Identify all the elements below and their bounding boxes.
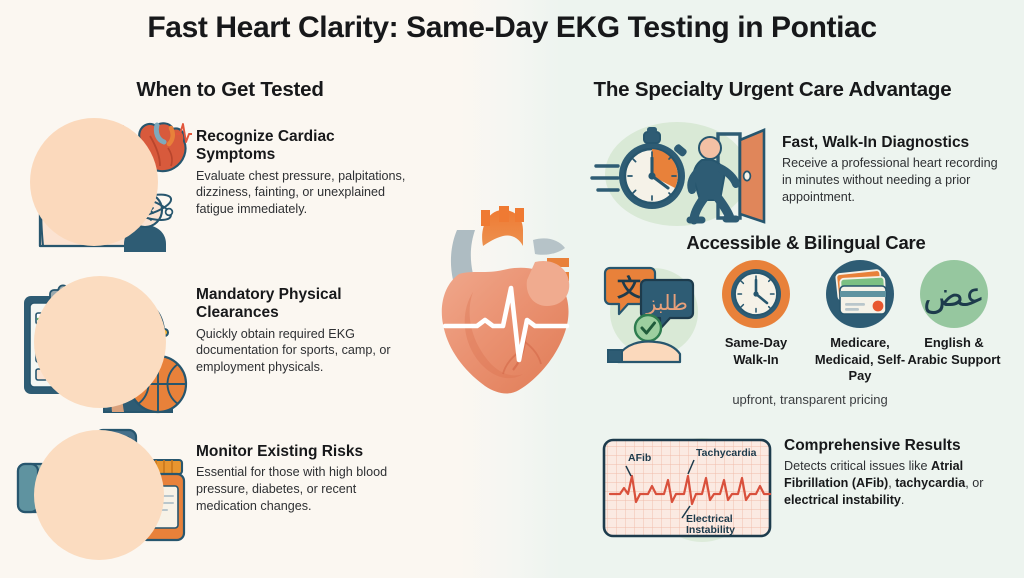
anatomical-heart-with-ecg-icon	[415, 196, 605, 411]
clock-icon	[708, 258, 804, 330]
ekg-label-afib: AFib	[628, 452, 651, 464]
chest-pain-heart-dizziness-icon	[10, 112, 192, 252]
right-block-walk-in: Fast, Walk-In Diagnostics Receive a prof…	[782, 134, 1008, 205]
bilingual-speech-bubbles-hand-check-icon: 文 طلبز	[604, 258, 700, 362]
accessible-care-heading: Accessible & Bilingual Care	[600, 232, 1012, 254]
right-block-results: Comprehensive Results Detects critical i…	[784, 437, 1012, 508]
left-block-1-body: Evaluate chest pressure, palpitations, d…	[196, 168, 408, 218]
left-block-2-title: Mandatory Physical Clearances	[196, 286, 408, 323]
payment-options-label: Medicare, Medicaid, Self-Pay	[812, 335, 908, 385]
left-block-2: Mandatory Physical Clearances Quickly ob…	[196, 286, 408, 376]
left-block-1: Recognize Cardiac Symptoms Evaluate ches…	[196, 128, 408, 218]
walk-in-title: Fast, Walk-In Diagnostics	[782, 134, 1008, 152]
pricing-note: upfront, transparent pricing	[604, 392, 1016, 407]
results-title: Comprehensive Results	[784, 437, 1012, 455]
clipboard-athlete-worker-icon	[10, 272, 192, 412]
walk-in-body: Receive a professional heart recording i…	[782, 155, 1008, 205]
arabic-glyph-bubble: طلبز	[645, 291, 688, 315]
arabic-support-card: عض English & Arabic Support	[906, 258, 1002, 368]
left-block-3-body: Essential for those with high blood pres…	[196, 464, 408, 514]
right-column-heading: The Specialty Urgent Care Advantage	[545, 78, 1000, 102]
chinese-glyph: 文	[617, 274, 642, 302]
payment-options-card: Medicare, Medicaid, Self-Pay	[812, 258, 908, 385]
results-body: Detects critical issues like Atrial Fibr…	[784, 458, 1012, 508]
stopwatch-walking-person-door-icon	[592, 118, 777, 230]
left-block-1-title: Recognize Cardiac Symptoms	[196, 128, 408, 165]
same-day-walk-in-card: Same-Day Walk-In	[708, 258, 804, 368]
ekg-label-tachycardia: Tachycardia	[696, 447, 757, 459]
ekg-label-electrical-2: Instability	[686, 524, 735, 536]
payment-cards-icon	[812, 258, 908, 330]
ekg-rhythm-strip-icon: AFib Tachycardia Electrical Instability	[598, 428, 782, 548]
same-day-walk-in-label: Same-Day Walk-In	[708, 335, 804, 368]
page-title: Fast Heart Clarity: Same-Day EKG Testing…	[0, 11, 1024, 45]
left-block-3: Monitor Existing Risks Essential for tho…	[196, 443, 408, 514]
infographic-canvas: Fast Heart Clarity: Same-Day EKG Testing…	[0, 0, 1024, 578]
left-block-3-title: Monitor Existing Risks	[196, 443, 408, 461]
left-column-heading: When to Get Tested	[60, 78, 400, 102]
arabic-support-label: English & Arabic Support	[906, 335, 1002, 368]
bilingual-care-card: 文 طلبز	[604, 258, 700, 367]
arabic-glyph: عض	[923, 275, 985, 315]
left-block-2-body: Quickly obtain required EKG documentatio…	[196, 326, 408, 376]
blood-pressure-glucometer-medication-icon	[10, 424, 192, 564]
arabic-letters-icon: عض	[906, 258, 1002, 330]
accessible-care-cards: 文 طلبز	[604, 258, 1016, 408]
